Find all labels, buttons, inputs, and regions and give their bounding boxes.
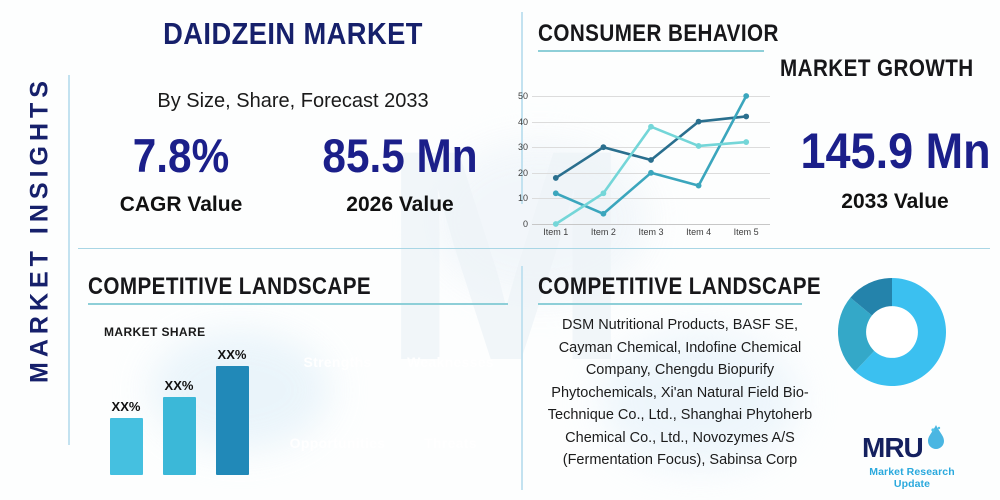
x-tick-label: Item 5 — [734, 227, 759, 237]
stat-cagr-label: CAGR Value — [86, 193, 276, 217]
droplet-icon — [925, 424, 947, 450]
swot-weaknesses[interactable]: Weaknesses — [398, 327, 503, 397]
market-insights-rail: MARKET INSIGHTS — [26, 20, 55, 440]
axis-line — [532, 224, 770, 225]
swot-label: Opportunities — [290, 435, 386, 451]
bar-label-1: XX% — [112, 399, 141, 414]
section-market-growth-heading: MARKET GROWTH — [780, 55, 974, 83]
y-tick-label: 10 — [518, 193, 528, 203]
x-tick-label: Item 4 — [686, 227, 711, 237]
swot-label: Weaknesses — [407, 354, 494, 370]
swot-label: Strengths — [303, 354, 371, 370]
x-tick-label: Item 1 — [543, 227, 568, 237]
section-competitive-landscape-right-heading: COMPETITIVE LANDSCAPE — [538, 273, 821, 301]
y-tick-label: 50 — [518, 91, 528, 101]
mru-logo-text: MRU — [862, 432, 923, 463]
bar-label-3: XX% — [218, 347, 247, 362]
left-vertical-divider — [68, 75, 70, 445]
stat-2026-label: 2026 Value — [300, 193, 500, 217]
horizontal-divider — [78, 248, 990, 249]
line-chart-plot — [532, 96, 770, 224]
bar-1 — [110, 418, 143, 475]
swot-label: Threats — [424, 435, 477, 451]
stat-2026-value: 85.5 Mn — [310, 128, 490, 183]
y-tick-label: 40 — [518, 117, 528, 127]
y-tick-label: 0 — [523, 219, 528, 229]
mru-logo-tagline: Market Research Update — [852, 466, 972, 490]
bar-2 — [163, 397, 196, 475]
stat-2033-label: 2033 Value — [790, 190, 1000, 214]
market-share-donut-chart — [838, 278, 946, 386]
x-tick-label: Item 2 — [591, 227, 616, 237]
market-share-title: MARKET SHARE — [104, 325, 205, 339]
swot-threats[interactable]: Threats — [398, 408, 503, 478]
competitive-left-rule — [88, 303, 508, 305]
consumer-behavior-rule — [538, 50, 764, 52]
swot-opportunities[interactable]: Opportunities — [285, 408, 390, 478]
section-consumer-behavior-heading: CONSUMER BEHAVIOR — [538, 20, 779, 48]
market-share-bar-chart: XX% XX% XX% — [100, 350, 250, 475]
section-competitive-landscape-left-heading: COMPETITIVE LANDSCAPE — [88, 273, 371, 301]
page-subtitle: By Size, Share, Forecast 2033 — [68, 90, 518, 113]
mru-logo: MRU — [862, 432, 923, 464]
consumer-behavior-line-chart: 50 40 30 20 10 0 Item 1 Item 2 Item 3 It… — [532, 96, 770, 224]
swot-strengths[interactable]: Strengths — [285, 327, 390, 397]
donut-hole — [866, 306, 918, 358]
center-vertical-divider-bottom — [521, 266, 523, 490]
stat-2033-value: 145.9 Mn — [801, 122, 990, 180]
y-tick-label: 30 — [518, 142, 528, 152]
y-tick-label: 20 — [518, 168, 528, 178]
company-list: DSM Nutritional Products, BASF SE, Cayma… — [536, 314, 824, 472]
x-tick-label: Item 3 — [638, 227, 663, 237]
stat-cagr-value: 7.8% — [96, 128, 267, 183]
bar-label-2: XX% — [165, 378, 194, 393]
bar-3 — [216, 366, 249, 475]
competitive-right-rule — [538, 303, 802, 305]
page-title: DAIDZEIN MARKET — [95, 16, 491, 52]
infographic-canvas: M MARKET INSIGHTS DAIDZEIN MARKET By Siz… — [0, 0, 1000, 500]
